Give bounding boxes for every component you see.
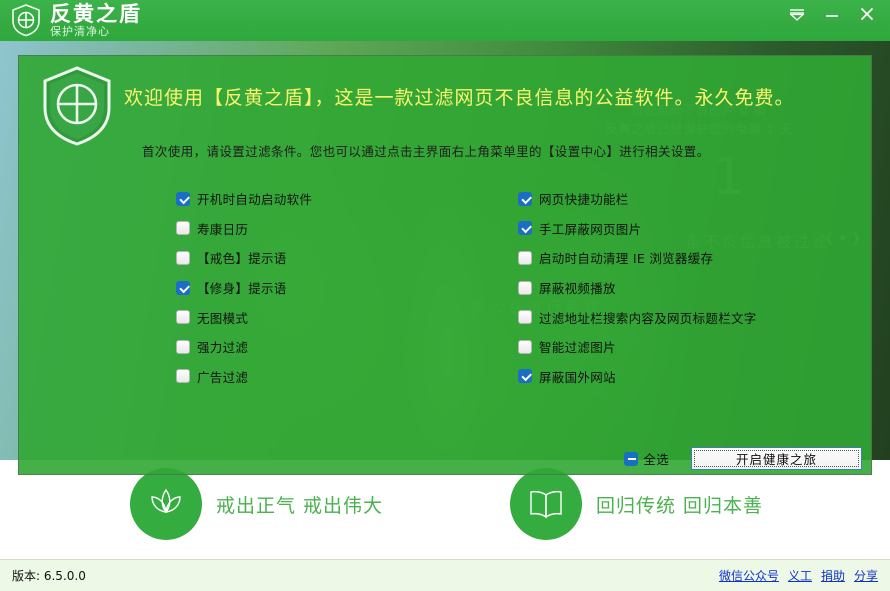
option-label: 屏蔽视频播放 <box>539 278 616 297</box>
app-logo-icon <box>8 2 44 38</box>
option-ad-filter[interactable]: 广告过滤 <box>176 362 446 392</box>
start-button-label: 开启健康之旅 <box>736 449 817 468</box>
link-donate[interactable]: 捐助 <box>821 567 845 584</box>
start-button[interactable]: 开启健康之旅 <box>691 447 862 470</box>
window-controls <box>775 0 890 41</box>
app-subtitle: 保护清净心 <box>50 26 142 37</box>
minimize-icon[interactable] <box>819 2 845 26</box>
option-label: 【戒色】提示语 <box>197 248 287 267</box>
slogan-text: 回归传统 回归本善 <box>596 491 763 518</box>
options-column-right: 网页快捷功能栏 手工屏蔽网页图片 启动时自动清理 IE 浏览器缓存 屏蔽视频播放… <box>446 184 873 391</box>
option-label: 广告过滤 <box>197 367 248 386</box>
checkbox[interactable] <box>176 310 190 324</box>
options-grid: 开机时自动启动软件 寿康日历 【戒色】提示语 【修身】提示语 无图模式 <box>19 184 873 391</box>
option-block-foreign-sites[interactable]: 屏蔽国外网站 <box>518 362 873 392</box>
option-filter-address-bar[interactable]: 过滤地址栏搜索内容及网页标题栏文字 <box>518 302 873 332</box>
option-manual-block-images[interactable]: 手工屏蔽网页图片 <box>518 214 873 244</box>
option-shoukang-calendar[interactable]: 寿康日历 <box>176 214 446 244</box>
select-all-checkbox[interactable]: 全选 <box>624 449 669 468</box>
option-label: 无图模式 <box>197 308 248 327</box>
checkbox[interactable] <box>624 452 638 466</box>
option-label: 寿康日历 <box>197 219 248 238</box>
option-label: 启动时自动清理 IE 浏览器缓存 <box>539 248 713 267</box>
checkbox[interactable] <box>518 340 532 354</box>
link-wechat-official[interactable]: 微信公众号 <box>719 567 779 584</box>
checkbox[interactable] <box>518 310 532 324</box>
link-share[interactable]: 分享 <box>854 567 878 584</box>
slogan-item: 戒出正气 戒出伟大 <box>130 468 383 540</box>
checkbox[interactable] <box>176 192 190 206</box>
select-all-label: 全选 <box>643 449 669 468</box>
option-block-video[interactable]: 屏蔽视频播放 <box>518 273 873 303</box>
panel-header: 欢迎使用【反黄之盾】，这是一款过滤网页不良信息的公益软件。永久免费。 首次使用，… <box>19 56 871 171</box>
menu-icon[interactable] <box>784 2 810 26</box>
settings-panel: 欢迎使用【反黄之盾】，这是一款过滤网页不良信息的公益软件。永久免费。 首次使用，… <box>18 55 872 475</box>
option-no-image-mode[interactable]: 无图模式 <box>176 302 446 332</box>
panel-actions: 全选 开启健康之旅 <box>19 441 873 476</box>
checkbox[interactable] <box>518 281 532 295</box>
version-label: 版本: 6.5.0.0 <box>12 567 86 584</box>
lotus-icon <box>130 468 202 540</box>
option-label: 手工屏蔽网页图片 <box>539 219 641 238</box>
option-jiese-tips[interactable]: 【戒色】提示语 <box>176 243 446 273</box>
option-label: 【修身】提示语 <box>197 278 287 297</box>
option-clear-ie-cache[interactable]: 启动时自动清理 IE 浏览器缓存 <box>518 243 873 273</box>
checkbox[interactable] <box>518 369 532 383</box>
app-title: 反黄之盾 <box>50 4 142 25</box>
close-icon[interactable] <box>854 2 880 26</box>
option-label: 屏蔽国外网站 <box>539 367 616 386</box>
shield-icon <box>39 64 115 148</box>
option-label: 开机时自动启动软件 <box>197 189 312 208</box>
brand-block: 反黄之盾 保护清净心 <box>50 4 142 37</box>
title-bar: 反黄之盾 保护清净心 <box>0 0 890 41</box>
option-web-quick-bar[interactable]: 网页快捷功能栏 <box>518 184 873 214</box>
option-smart-image-filter[interactable]: 智能过滤图片 <box>518 332 873 362</box>
checkbox[interactable] <box>518 221 532 235</box>
checkbox[interactable] <box>176 340 190 354</box>
option-label: 智能过滤图片 <box>539 337 616 356</box>
panel-subtitle: 首次使用，请设置过滤条件。您也可以通过点击主界面右上角菜单里的【设置中心】进行相… <box>142 141 710 160</box>
slogan-item: 回归传统 回归本善 <box>510 468 763 540</box>
application-window: 反黄之盾 保护清净心 <box>0 0 890 591</box>
option-strong-filter[interactable]: 强力过滤 <box>176 332 446 362</box>
option-xiushen-tips[interactable]: 【修身】提示语 <box>176 273 446 303</box>
slogan-text: 戒出正气 戒出伟大 <box>216 491 383 518</box>
option-label: 网页快捷功能栏 <box>539 189 629 208</box>
checkbox[interactable] <box>176 251 190 265</box>
checkbox[interactable] <box>518 251 532 265</box>
checkbox[interactable] <box>518 192 532 206</box>
checkbox[interactable] <box>176 369 190 383</box>
option-label: 过滤地址栏搜索内容及网页标题栏文字 <box>539 308 757 327</box>
options-column-left: 开机时自动启动软件 寿康日历 【戒色】提示语 【修身】提示语 无图模式 <box>19 184 446 391</box>
link-volunteer[interactable]: 义工 <box>788 567 812 584</box>
book-icon <box>510 468 582 540</box>
welcome-message: 欢迎使用【反黄之盾】，这是一款过滤网页不良信息的公益软件。永久免费。 <box>124 83 795 110</box>
option-auto-start[interactable]: 开机时自动启动软件 <box>176 184 446 214</box>
footer-links: 微信公众号 义工 捐助 分享 <box>719 567 878 584</box>
checkbox[interactable] <box>176 281 190 295</box>
checkbox[interactable] <box>176 221 190 235</box>
option-label: 强力过滤 <box>197 337 248 356</box>
status-bar: 版本: 6.5.0.0 微信公众号 义工 捐助 分享 <box>0 559 890 591</box>
